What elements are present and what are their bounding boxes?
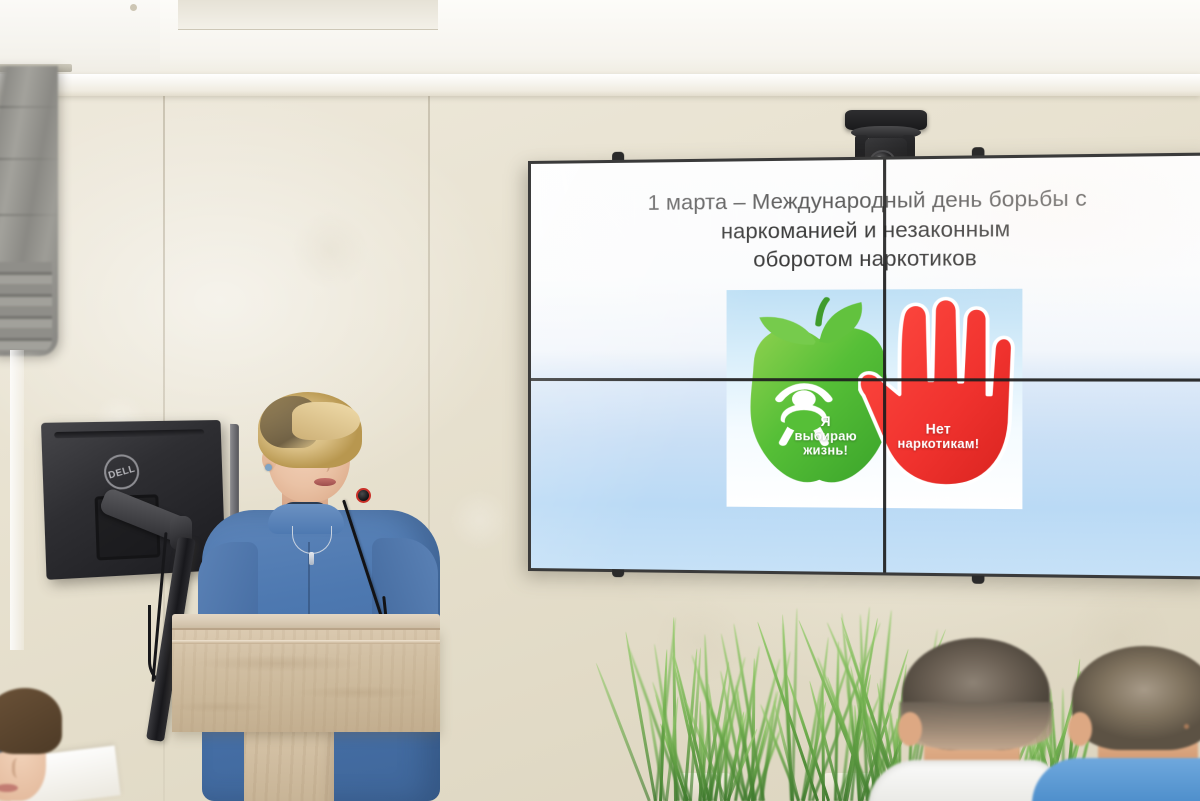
necklace-pendant: [309, 552, 314, 565]
ceiling-fixture-dot: [130, 4, 137, 11]
attendee-hair-fade: [900, 702, 1052, 750]
apple-caption-line-2: выбираю: [794, 429, 856, 444]
attendee-front-left: [0, 688, 110, 801]
mouth: [314, 478, 336, 486]
attendee-white-shirt-body: [868, 760, 1058, 801]
hand-caption-line-2: наркотикам!: [897, 436, 979, 451]
ceiling-recess: [178, 0, 438, 30]
earring: [265, 464, 272, 471]
hand-caption: Нет наркотикам!: [858, 421, 1019, 452]
attendee-blue-shirt: [1062, 646, 1200, 801]
video-wall-screen: 1 марта – Международный день борьбы с на…: [531, 156, 1200, 577]
attendee-ear-right: [1068, 712, 1092, 746]
presentation-slide: 1 марта – Международный день борьбы с на…: [531, 156, 1200, 577]
videowall-mount-bottom-right: [972, 575, 985, 583]
dell-logo: DELL: [100, 450, 143, 493]
microphone-capsule-icon: [356, 488, 371, 503]
slide-title: 1 марта – Международный день борьбы с на…: [567, 183, 1173, 275]
lectern: [172, 614, 440, 801]
videowall-mount-top-left: [612, 152, 624, 160]
videowall-mount-bottom-left: [612, 569, 624, 577]
monitor-vent: [54, 429, 204, 438]
videowall-mount-top-right: [972, 147, 985, 155]
videowall-horizontal-bezel: [531, 378, 1200, 382]
apple-caption-line-3: жизнь!: [803, 444, 848, 458]
microphone-gooseneck: [342, 500, 384, 621]
slide-title-line-1: 1 марта – Международный день борьбы с: [567, 183, 1173, 218]
ornamental-grass-left: [630, 611, 780, 801]
videowall-vertical-bezel: [883, 160, 886, 573]
slide-title-line-2: наркоманией и незаконным: [567, 213, 1173, 247]
lectern-ledge: [172, 640, 440, 644]
attendee-ear: [898, 712, 922, 746]
video-wall[interactable]: 1 марта – Международный день борьбы с на…: [528, 152, 1200, 579]
curtain-folds-stack: [0, 262, 52, 352]
presentation-photo-scene: 1 марта – Международный день борьбы с на…: [0, 0, 1200, 801]
slide-title-line-3: оборотом наркотиков: [567, 242, 1173, 275]
wall-light-strip: [10, 350, 24, 650]
ceiling-cornice: [0, 74, 1200, 96]
anti-drug-poster: Я выбираю жизнь! Нет наркотикам!: [726, 289, 1022, 510]
attendee-blue-shirt-body: [1032, 758, 1200, 801]
attendee-mole: [1184, 724, 1189, 729]
attendee-hair: [0, 688, 62, 754]
attendee-nose: [12, 758, 26, 778]
lectern-column: [244, 730, 334, 801]
presenter-hair-fringe: [292, 402, 360, 440]
hand-caption-line-1: Нет: [858, 421, 1019, 437]
